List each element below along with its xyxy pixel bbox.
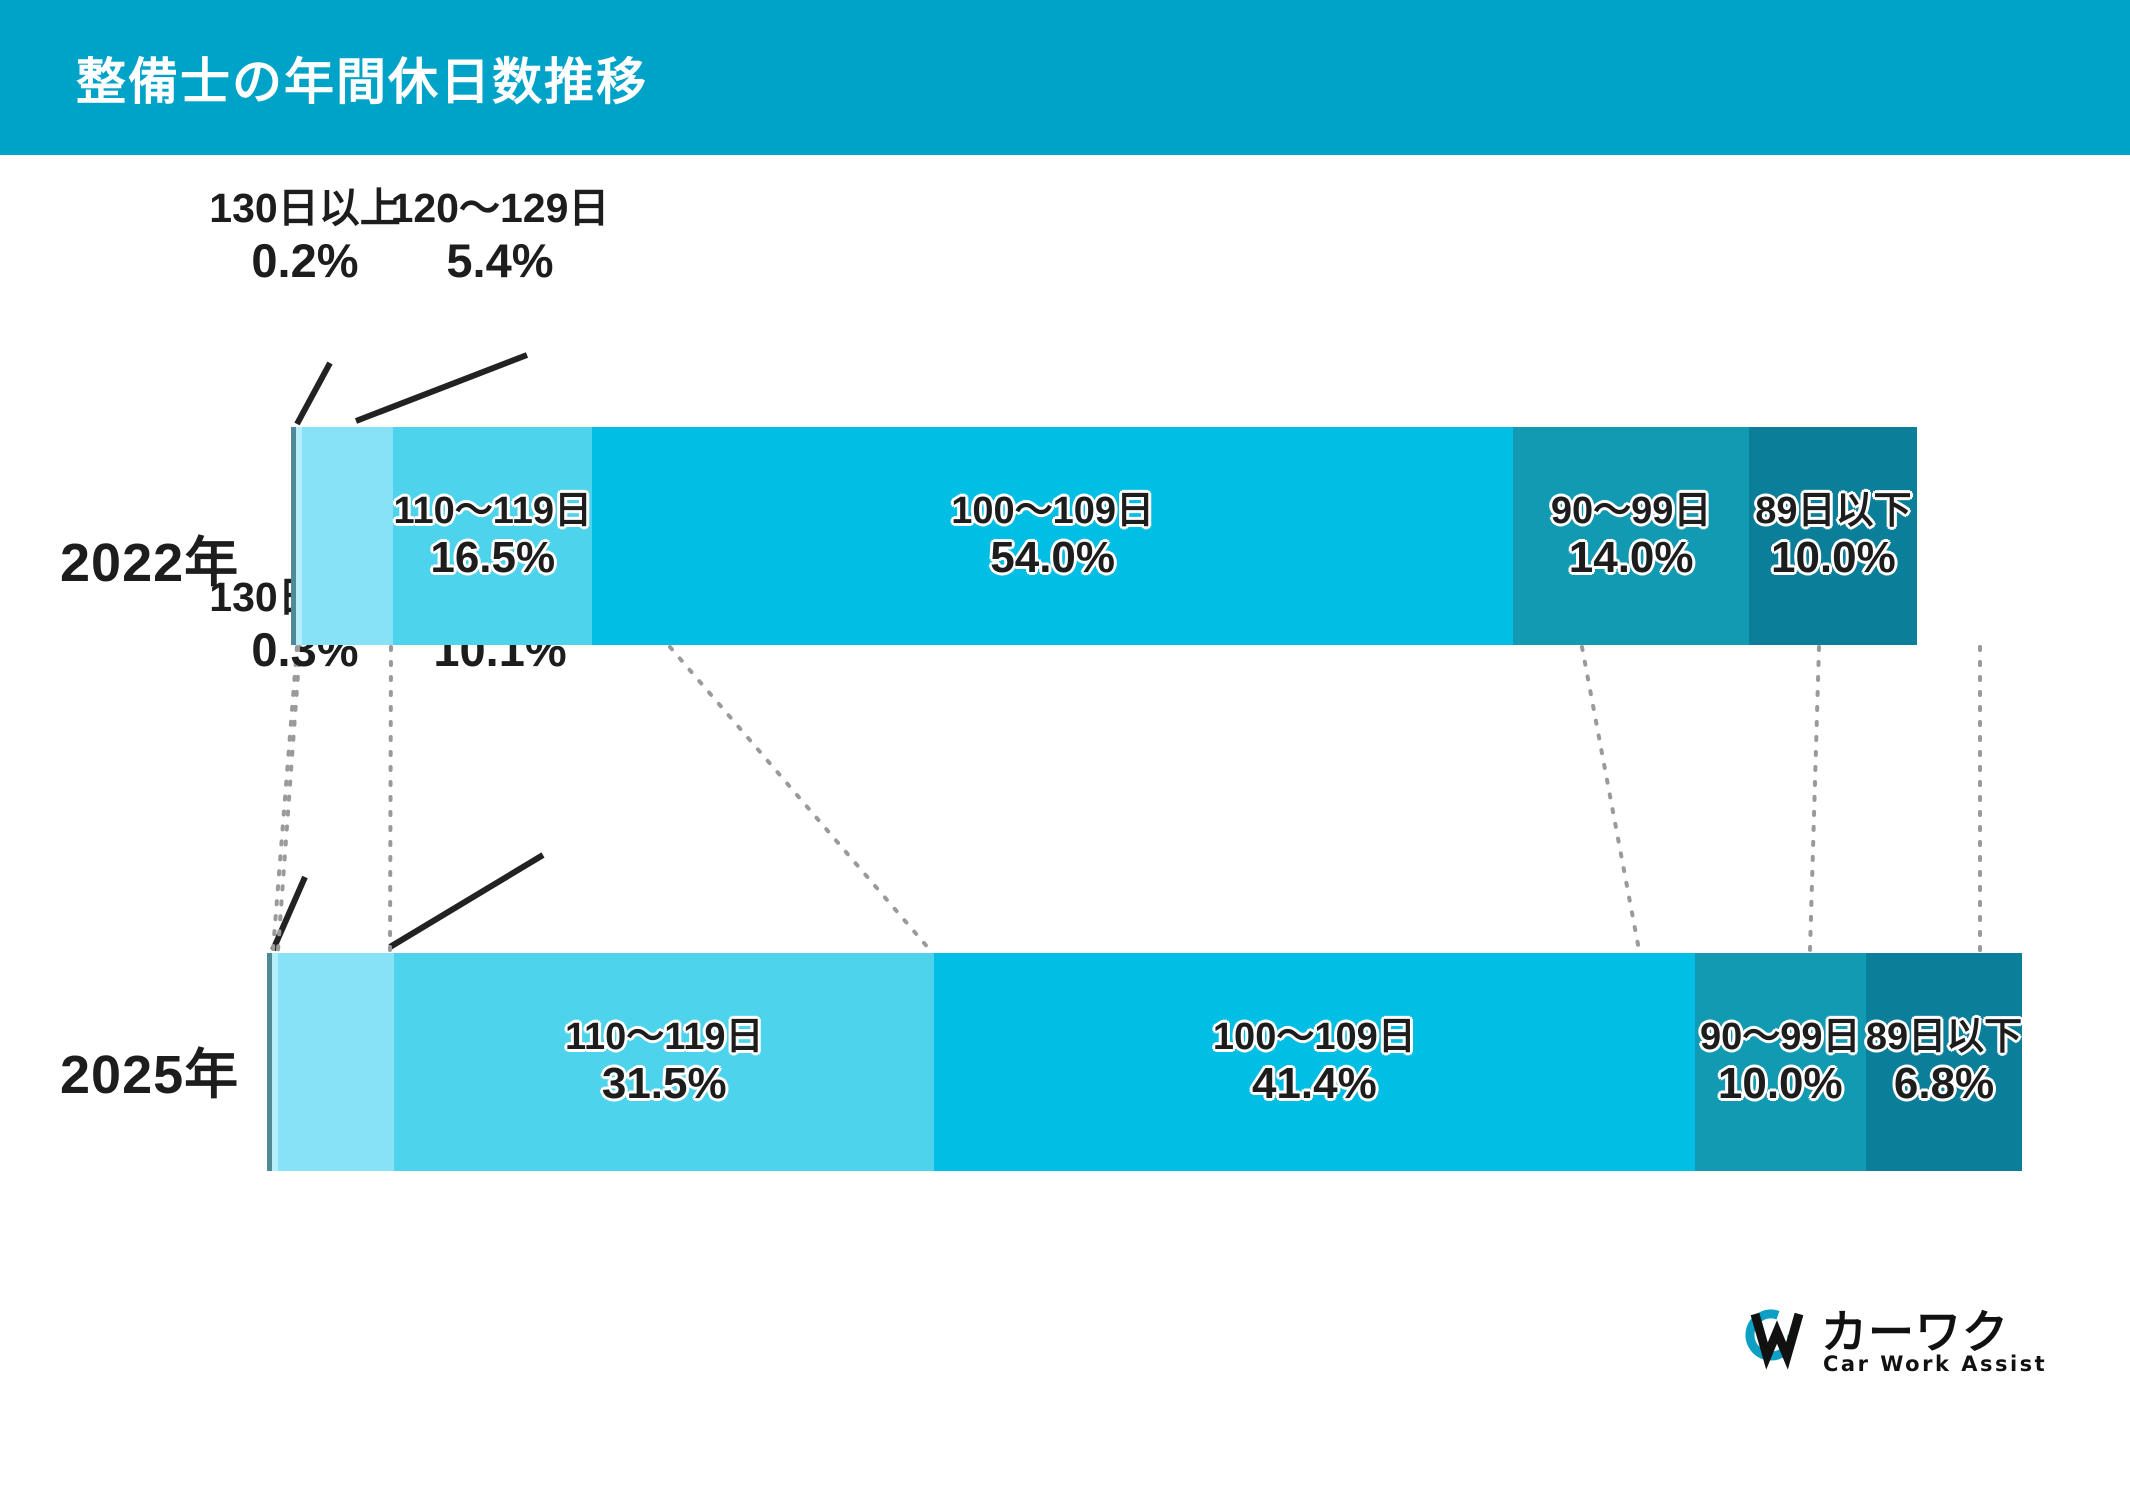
callout-label: 120〜129日: [370, 184, 630, 233]
leader-2025-130-icon: [273, 877, 305, 950]
car-work-assist-mark-icon: [1737, 1298, 1811, 1372]
segment-value: 16.5%: [430, 533, 555, 582]
page-header: 整備士の年間休日数推移: [0, 0, 2130, 155]
segment-label: 100〜109日: [951, 490, 1154, 532]
bar-segment-2022-100to109days[interactable]: 100〜109日 54.0%: [592, 427, 1513, 645]
tie-line-b4-icon: [1582, 647, 1639, 950]
chart-page: 整備士の年間休日数推移 130日: [0, 0, 2130, 1506]
bar-segment-2025-89daysorless[interactable]: 89日以下 6.8%: [1866, 953, 2022, 1171]
bar-segment-2025-90to99days[interactable]: 90〜99日 10.0%: [1695, 953, 1866, 1171]
tie-line-b1-icon: [278, 647, 300, 950]
stacked-bar-2025: 130日以上 0.3% 120〜129日 10.1% 110〜119日 31.5…: [267, 953, 1985, 1171]
tie-line-b2-icon: [390, 647, 391, 950]
stacked-bar-2022: 130日以上 0.2% 120〜129日 5.4% 110〜119日 16.5%…: [291, 427, 1985, 645]
segment-value: 14.0%: [1569, 533, 1694, 582]
segment-label: 90〜99日: [1700, 1016, 1861, 1058]
bar-segment-2022-110to119days[interactable]: 110〜119日 16.5%: [393, 427, 592, 645]
page-title: 整備士の年間休日数推移: [76, 42, 648, 114]
bar-segment-2025-100to109days[interactable]: 100〜109日 41.4%: [934, 953, 1695, 1171]
brand-logo: カーワク Car Work Assist: [1737, 1296, 1997, 1386]
segment-label: 89日以下: [1866, 1016, 2022, 1058]
callout-value: 5.4%: [370, 233, 630, 289]
segment-value: 10.0%: [1718, 1059, 1843, 1108]
tie-line-b0-icon: [273, 647, 297, 950]
segment-label: 110〜119日: [393, 490, 592, 532]
leader-2025-120-icon: [390, 855, 543, 947]
callout-2022-120to129days: 120〜129日 5.4%: [370, 184, 630, 290]
bar-segment-2022-120to129days[interactable]: 120〜129日 5.4%: [302, 427, 393, 645]
bar-segment-2022-89daysorless[interactable]: 89日以下 10.0%: [1749, 427, 1917, 645]
leader-2022-130-icon: [297, 363, 330, 424]
segment-label: 110〜119日: [565, 1016, 764, 1058]
segment-value: 41.4%: [1252, 1059, 1377, 1108]
axis-label-2022: 2022年: [60, 518, 239, 597]
segment-value: 6.8%: [1894, 1059, 1994, 1108]
tie-line-b5-icon: [1810, 647, 1819, 950]
segment-label: 90〜99日: [1551, 490, 1712, 532]
axis-label-2025: 2025年: [60, 1030, 239, 1109]
segment-value: 10.0%: [1771, 533, 1896, 582]
segment-value: 54.0%: [990, 533, 1115, 582]
leader-2022-120-icon: [356, 355, 527, 421]
tie-line-b3-icon: [670, 647, 930, 950]
bar-segment-2025-110to119days[interactable]: 110〜119日 31.5%: [394, 953, 934, 1171]
segment-label: 100〜109日: [1213, 1016, 1416, 1058]
logo-tagline: Car Work Assist: [1823, 1352, 2047, 1376]
chart-plot-area: 130日以上 0.2% 120〜129日 5.4% 130日以上 0.3% 12…: [0, 155, 2130, 1506]
segment-value: 31.5%: [602, 1059, 727, 1108]
bar-segment-2022-90to99days[interactable]: 90〜99日 14.0%: [1513, 427, 1749, 645]
segment-label: 89日以下: [1755, 490, 1911, 532]
bar-segment-2025-120to129days[interactable]: 120〜129日 10.1%: [278, 953, 394, 1171]
